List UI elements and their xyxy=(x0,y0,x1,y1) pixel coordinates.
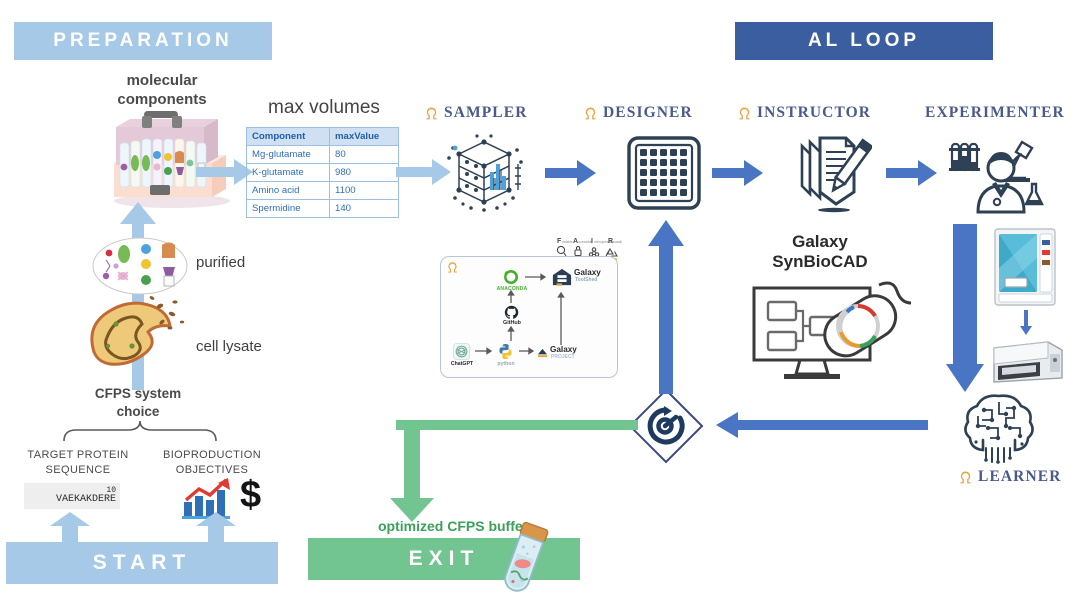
banner-preparation: PREPARATION xyxy=(14,22,272,60)
scientist-icon xyxy=(948,134,1048,214)
cell-component: K-glutamate xyxy=(247,164,330,182)
banner-al-loop-label: AL LOOP xyxy=(808,30,920,52)
network-icon xyxy=(589,248,598,256)
banner-start: START xyxy=(6,542,278,584)
table-header-row: Component maxValue xyxy=(247,128,399,146)
table-row: Mg-glutamate 80 xyxy=(247,146,399,164)
svg-text:indable: indable xyxy=(562,240,573,244)
cell-maxvalue: 980 xyxy=(330,164,399,182)
arrow-handler-to-reader xyxy=(1019,310,1033,336)
stage-label-text: INSTRUCTOR xyxy=(757,104,871,122)
purified-molecules-icon xyxy=(92,236,188,296)
cell-component: Amino acid xyxy=(247,182,330,200)
stage-label-text: SAMPLER xyxy=(444,104,527,122)
molecular-components-label: molecular components xyxy=(82,72,242,110)
stage-label-text: LEARNER xyxy=(978,468,1062,486)
galaxy-icon xyxy=(737,106,752,121)
synbiocad-monitor-icon xyxy=(748,278,914,386)
cell-lysate-icon xyxy=(82,290,192,380)
banner-al-loop: AL LOOP xyxy=(735,22,993,60)
table-col-maxvalue: maxValue xyxy=(330,128,399,146)
document-pencil-icon xyxy=(796,134,872,214)
stage-label-text: DESIGNER xyxy=(603,104,693,122)
arrow-learner-to-decision xyxy=(716,412,928,438)
data-cube-icon xyxy=(443,132,525,216)
tools-panel-arrows xyxy=(441,257,617,377)
target-protein-sequence-label: TARGET PROTEIN SEQUENCE xyxy=(8,448,148,478)
brace-icon xyxy=(62,420,218,442)
galaxy-tools-panel: ANACONDA GitHub Galaxy ToolShed ChatGPT … xyxy=(440,256,618,378)
cell-component: Spermidine xyxy=(247,200,330,218)
fair-icons-row: F indable A ccessible I nteroperable R e… xyxy=(556,236,622,258)
loop-decision-node[interactable] xyxy=(628,388,704,464)
arrow-decision-to-exit xyxy=(386,412,638,524)
cell-maxvalue: 80 xyxy=(330,146,399,164)
galaxy-icon xyxy=(958,470,973,485)
cell-lysate-label: cell lysate xyxy=(196,338,262,355)
ai-brain-icon xyxy=(962,392,1036,464)
recycle-icon xyxy=(606,249,617,256)
cell-maxvalue: 140 xyxy=(330,200,399,218)
arrow-decision-to-designer xyxy=(648,218,684,394)
max-volumes-title: max volumes xyxy=(268,97,380,119)
arrow-designer-to-instructor xyxy=(712,160,764,186)
svg-text:A: A xyxy=(573,238,578,245)
banner-preparation-label: PREPARATION xyxy=(53,30,232,52)
dollar-icon: $ xyxy=(240,474,261,517)
sequence-value: VAEKAKDERE xyxy=(56,495,116,506)
liquid-handler-icon xyxy=(994,228,1056,306)
stage-label-instructor: INSTRUCTOR xyxy=(737,104,871,122)
arrow-start-to-sequence xyxy=(48,512,92,546)
stage-label-learner: LEARNER xyxy=(958,468,1062,486)
stage-label-designer: DESIGNER xyxy=(583,104,693,122)
cell-maxvalue: 1100 xyxy=(330,182,399,200)
plate-reader-icon xyxy=(988,338,1064,386)
arrow-instructor-to-experimenter xyxy=(886,160,938,186)
magnifier-icon xyxy=(557,246,566,256)
stage-label-sampler: SAMPLER xyxy=(424,104,527,122)
table-row: Spermidine 140 xyxy=(247,200,399,218)
protein-sequence-box: 10 VAEKAKDERE xyxy=(24,483,120,509)
stage-label-text: EXPERIMENTER xyxy=(925,104,1065,122)
table-row: K-glutamate 980 xyxy=(247,164,399,182)
lock-icon xyxy=(575,246,581,255)
cell-component: Mg-glutamate xyxy=(247,146,330,164)
max-volumes-table: Component maxValue Mg-glutamate 80 K-glu… xyxy=(246,127,399,218)
arrow-experimenter-to-learner xyxy=(946,224,984,394)
bioproduction-objectives-label: BIOPRODUCTION OBJECTIVES xyxy=(140,448,284,478)
galaxy-icon xyxy=(583,106,598,121)
arrow-start-to-objectives xyxy=(194,512,238,546)
buffer-tube-icon xyxy=(495,520,553,600)
galaxy-icon xyxy=(424,106,439,121)
svg-text:eusable: eusable xyxy=(613,240,622,244)
stage-label-experimenter: EXPERIMENTER xyxy=(925,104,1065,122)
purified-label: purified xyxy=(196,254,245,271)
galaxy-synbiocad-label: Galaxy SynBioCAD xyxy=(755,232,885,273)
banner-start-label: START xyxy=(93,551,191,575)
table-col-component: Component xyxy=(247,128,330,146)
table-row: Amino acid 1100 xyxy=(247,182,399,200)
arrow-sampler-to-designer xyxy=(545,160,597,186)
microplate-icon xyxy=(627,136,701,210)
banner-exit-label: EXIT xyxy=(409,547,480,571)
svg-text:I: I xyxy=(591,238,593,245)
workflow-diagram: PREPARATION AL LOOP START EXIT molecular… xyxy=(0,0,1080,603)
cfps-system-choice-label: CFPS system choice xyxy=(48,385,228,420)
